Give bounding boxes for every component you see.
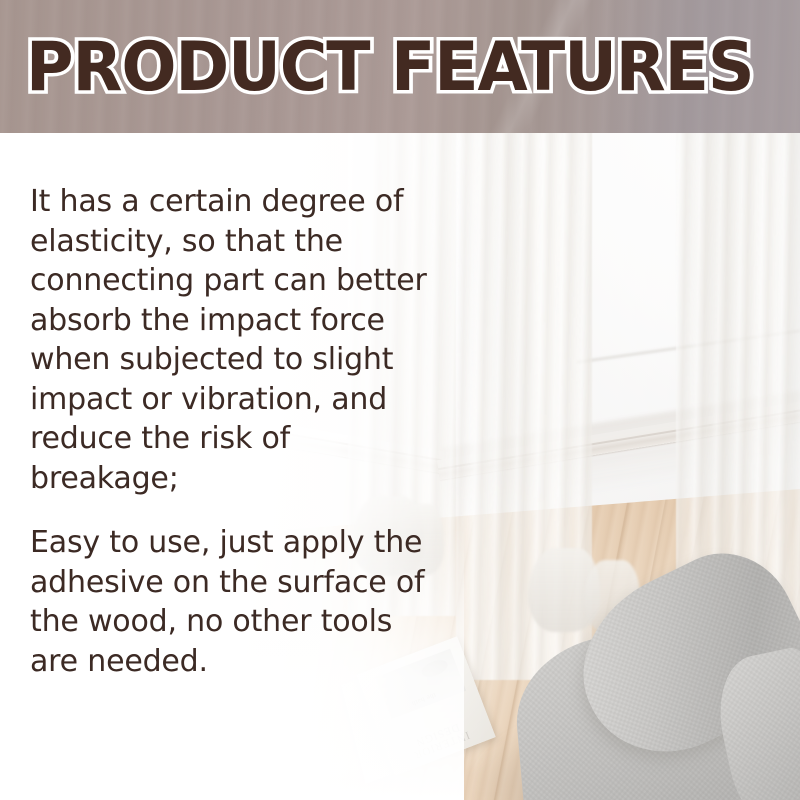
feature-paragraph-2: Easy to use, just apply the adhesive on … xyxy=(30,523,430,681)
features-text-block: It has a certain degree of elasticity, s… xyxy=(30,182,430,681)
feature-paragraph-1: It has a certain degree of elasticity, s… xyxy=(30,182,430,498)
page-title: PRODUCT FEATURES xyxy=(26,34,754,102)
product-features-poster: the bath INTERIOR DESIGN PRODUCT FEATURE… xyxy=(0,0,800,800)
